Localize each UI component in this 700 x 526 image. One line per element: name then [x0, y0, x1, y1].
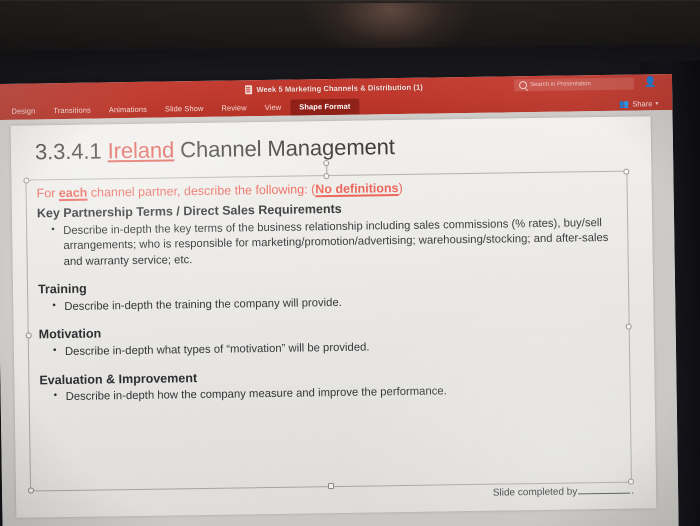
slide-completed-by-blank [578, 493, 630, 495]
tab-shape-format[interactable]: Shape Format [290, 99, 359, 116]
rotate-handle[interactable] [323, 160, 329, 166]
lead-part-2: channel partner, describe the following:… [87, 182, 315, 199]
slide-workspace: 3.3.4.1 Ireland Channel Management For e… [0, 110, 679, 526]
slide-completed-by-label: Slide completed by [493, 486, 578, 498]
slide-canvas[interactable]: 3.3.4.1 Ireland Channel Management For e… [11, 116, 657, 517]
resize-handle-bottom-right[interactable] [628, 479, 634, 485]
lead-part-1: For [37, 186, 59, 200]
slide-title-prefix: 3.3.4.1 [35, 138, 108, 164]
share-button[interactable]: 👥 Share ▾ [619, 99, 658, 109]
body-textbox-selected[interactable]: For each channel partner, describe the f… [25, 171, 632, 492]
bullet-list-key-partnership-terms: Describe in-depth the key terms of the b… [37, 215, 620, 270]
resize-handle-bottom-center[interactable] [328, 483, 334, 489]
tab-design[interactable]: Design [2, 103, 44, 120]
document-icon [245, 85, 252, 94]
slide-title-suffix: Channel Management [174, 134, 395, 162]
tab-slide-show[interactable]: Slide Show [156, 101, 213, 118]
room-top-edge [0, 0, 700, 3]
list-item: Describe in-depth the key terms of the b… [37, 215, 620, 270]
resize-handle-middle-left[interactable] [26, 332, 32, 338]
search-placeholder: Search in Presentation [530, 81, 591, 88]
search-input[interactable]: Search in Presentation [514, 78, 634, 92]
slide-title-highlight: Ireland [107, 137, 174, 163]
screenshot-root: Week 5 Marketing Channels & Distribution… [0, 0, 700, 526]
search-icon [519, 81, 527, 89]
tab-review[interactable]: Review [212, 100, 255, 117]
account-icon[interactable]: 👤 [644, 77, 656, 89]
lead-bold-each: each [59, 186, 88, 200]
document-title: Week 5 Marketing Channels & Distribution… [245, 82, 422, 94]
slide-completed-by: Slide completed by. [493, 486, 634, 499]
resize-handle-top-right[interactable] [623, 169, 629, 175]
body-textbox-content: For each channel partner, describe the f… [36, 176, 621, 406]
document-title-text: Week 5 Marketing Channels & Distribution… [256, 82, 422, 93]
share-label: Share [632, 99, 652, 108]
tab-transitions[interactable]: Transitions [44, 102, 100, 119]
slide-completed-by-trailing: . [631, 486, 634, 497]
tab-view[interactable]: View [256, 100, 291, 117]
slide-title[interactable]: 3.3.4.1 Ireland Channel Management [35, 134, 395, 165]
resize-handle-top-left[interactable] [23, 178, 29, 184]
lead-part-3: ) [398, 181, 402, 195]
laptop-screen: Week 5 Marketing Channels & Distribution… [0, 74, 679, 526]
resize-handle-middle-right[interactable] [626, 324, 632, 330]
lead-bold-no-definitions: No definitions [315, 181, 399, 196]
chevron-down-icon: ▾ [655, 100, 658, 107]
tab-animations[interactable]: Animations [100, 102, 156, 119]
share-person-icon: 👥 [619, 100, 629, 109]
resize-handle-top-center[interactable] [323, 173, 329, 179]
resize-handle-bottom-left[interactable] [28, 487, 34, 493]
